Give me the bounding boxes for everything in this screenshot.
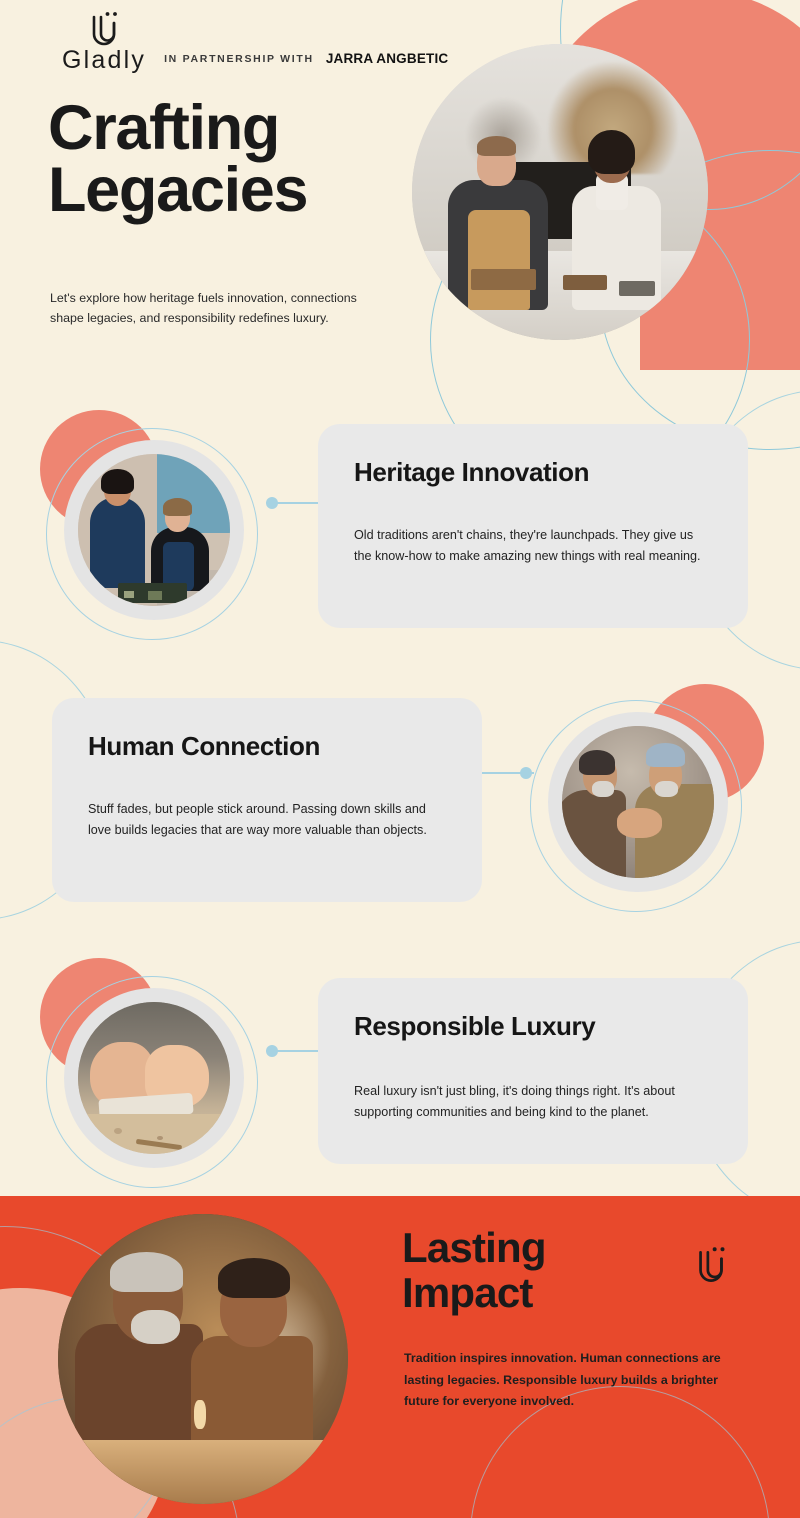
section-photo [562, 726, 714, 878]
footer-band: Lasting Impact Tradition inspires innova… [0, 1196, 800, 1518]
partnership-prefix: IN PARTNERSHIP WITH [164, 53, 314, 65]
card-body: Old traditions aren't chains, they're la… [354, 525, 712, 568]
gladly-u-dots-logo-icon [688, 1244, 734, 1288]
card-body: Real luxury isn't just bling, it's doing… [354, 1081, 712, 1124]
section-photo [78, 1002, 230, 1154]
partnership-block: IN PARTNERSHIP WITH JARRA ANGBETIC [164, 51, 448, 73]
connector-dot [266, 1045, 278, 1057]
section-photo-node [36, 964, 272, 1200]
page-title: Crafting Legacies [48, 98, 428, 221]
section-photo-node [520, 688, 756, 924]
section-photo-node [36, 416, 272, 652]
hero-photo [412, 44, 708, 340]
content-card: Responsible Luxury Real luxury isn't jus… [318, 978, 748, 1164]
connector-dot [266, 497, 278, 509]
card-title: Heritage Innovation [354, 458, 712, 487]
gladly-u-dots-logo-icon [82, 10, 126, 50]
connector-line [268, 1050, 324, 1052]
card-title: Responsible Luxury [354, 1012, 712, 1041]
section-human-connection: Human Connection Stuff fades, but people… [0, 672, 800, 942]
brand-name: Gladly [62, 48, 146, 73]
section-photo [78, 454, 230, 606]
content-card: Heritage Innovation Old traditions aren'… [318, 424, 748, 628]
footer-title: Lasting Impact [402, 1226, 632, 1315]
section-heritage-innovation: Heritage Innovation Old traditions aren'… [0, 398, 800, 668]
card-title: Human Connection [88, 732, 446, 761]
content-card: Human Connection Stuff fades, but people… [52, 698, 482, 902]
connector-line [268, 502, 324, 504]
brand-logo-block: Gladly [62, 10, 146, 73]
card-body: Stuff fades, but people stick around. Pa… [88, 799, 446, 842]
section-responsible-luxury: Responsible Luxury Real luxury isn't jus… [0, 946, 800, 1206]
footer-body: Tradition inspires innovation. Human con… [404, 1348, 734, 1413]
footer-photo [58, 1214, 348, 1504]
hero-subtitle: Let's explore how heritage fuels innovat… [50, 288, 365, 329]
infographic-page: Gladly IN PARTNERSHIP WITH JARRA ANGBETI… [0, 0, 800, 1518]
